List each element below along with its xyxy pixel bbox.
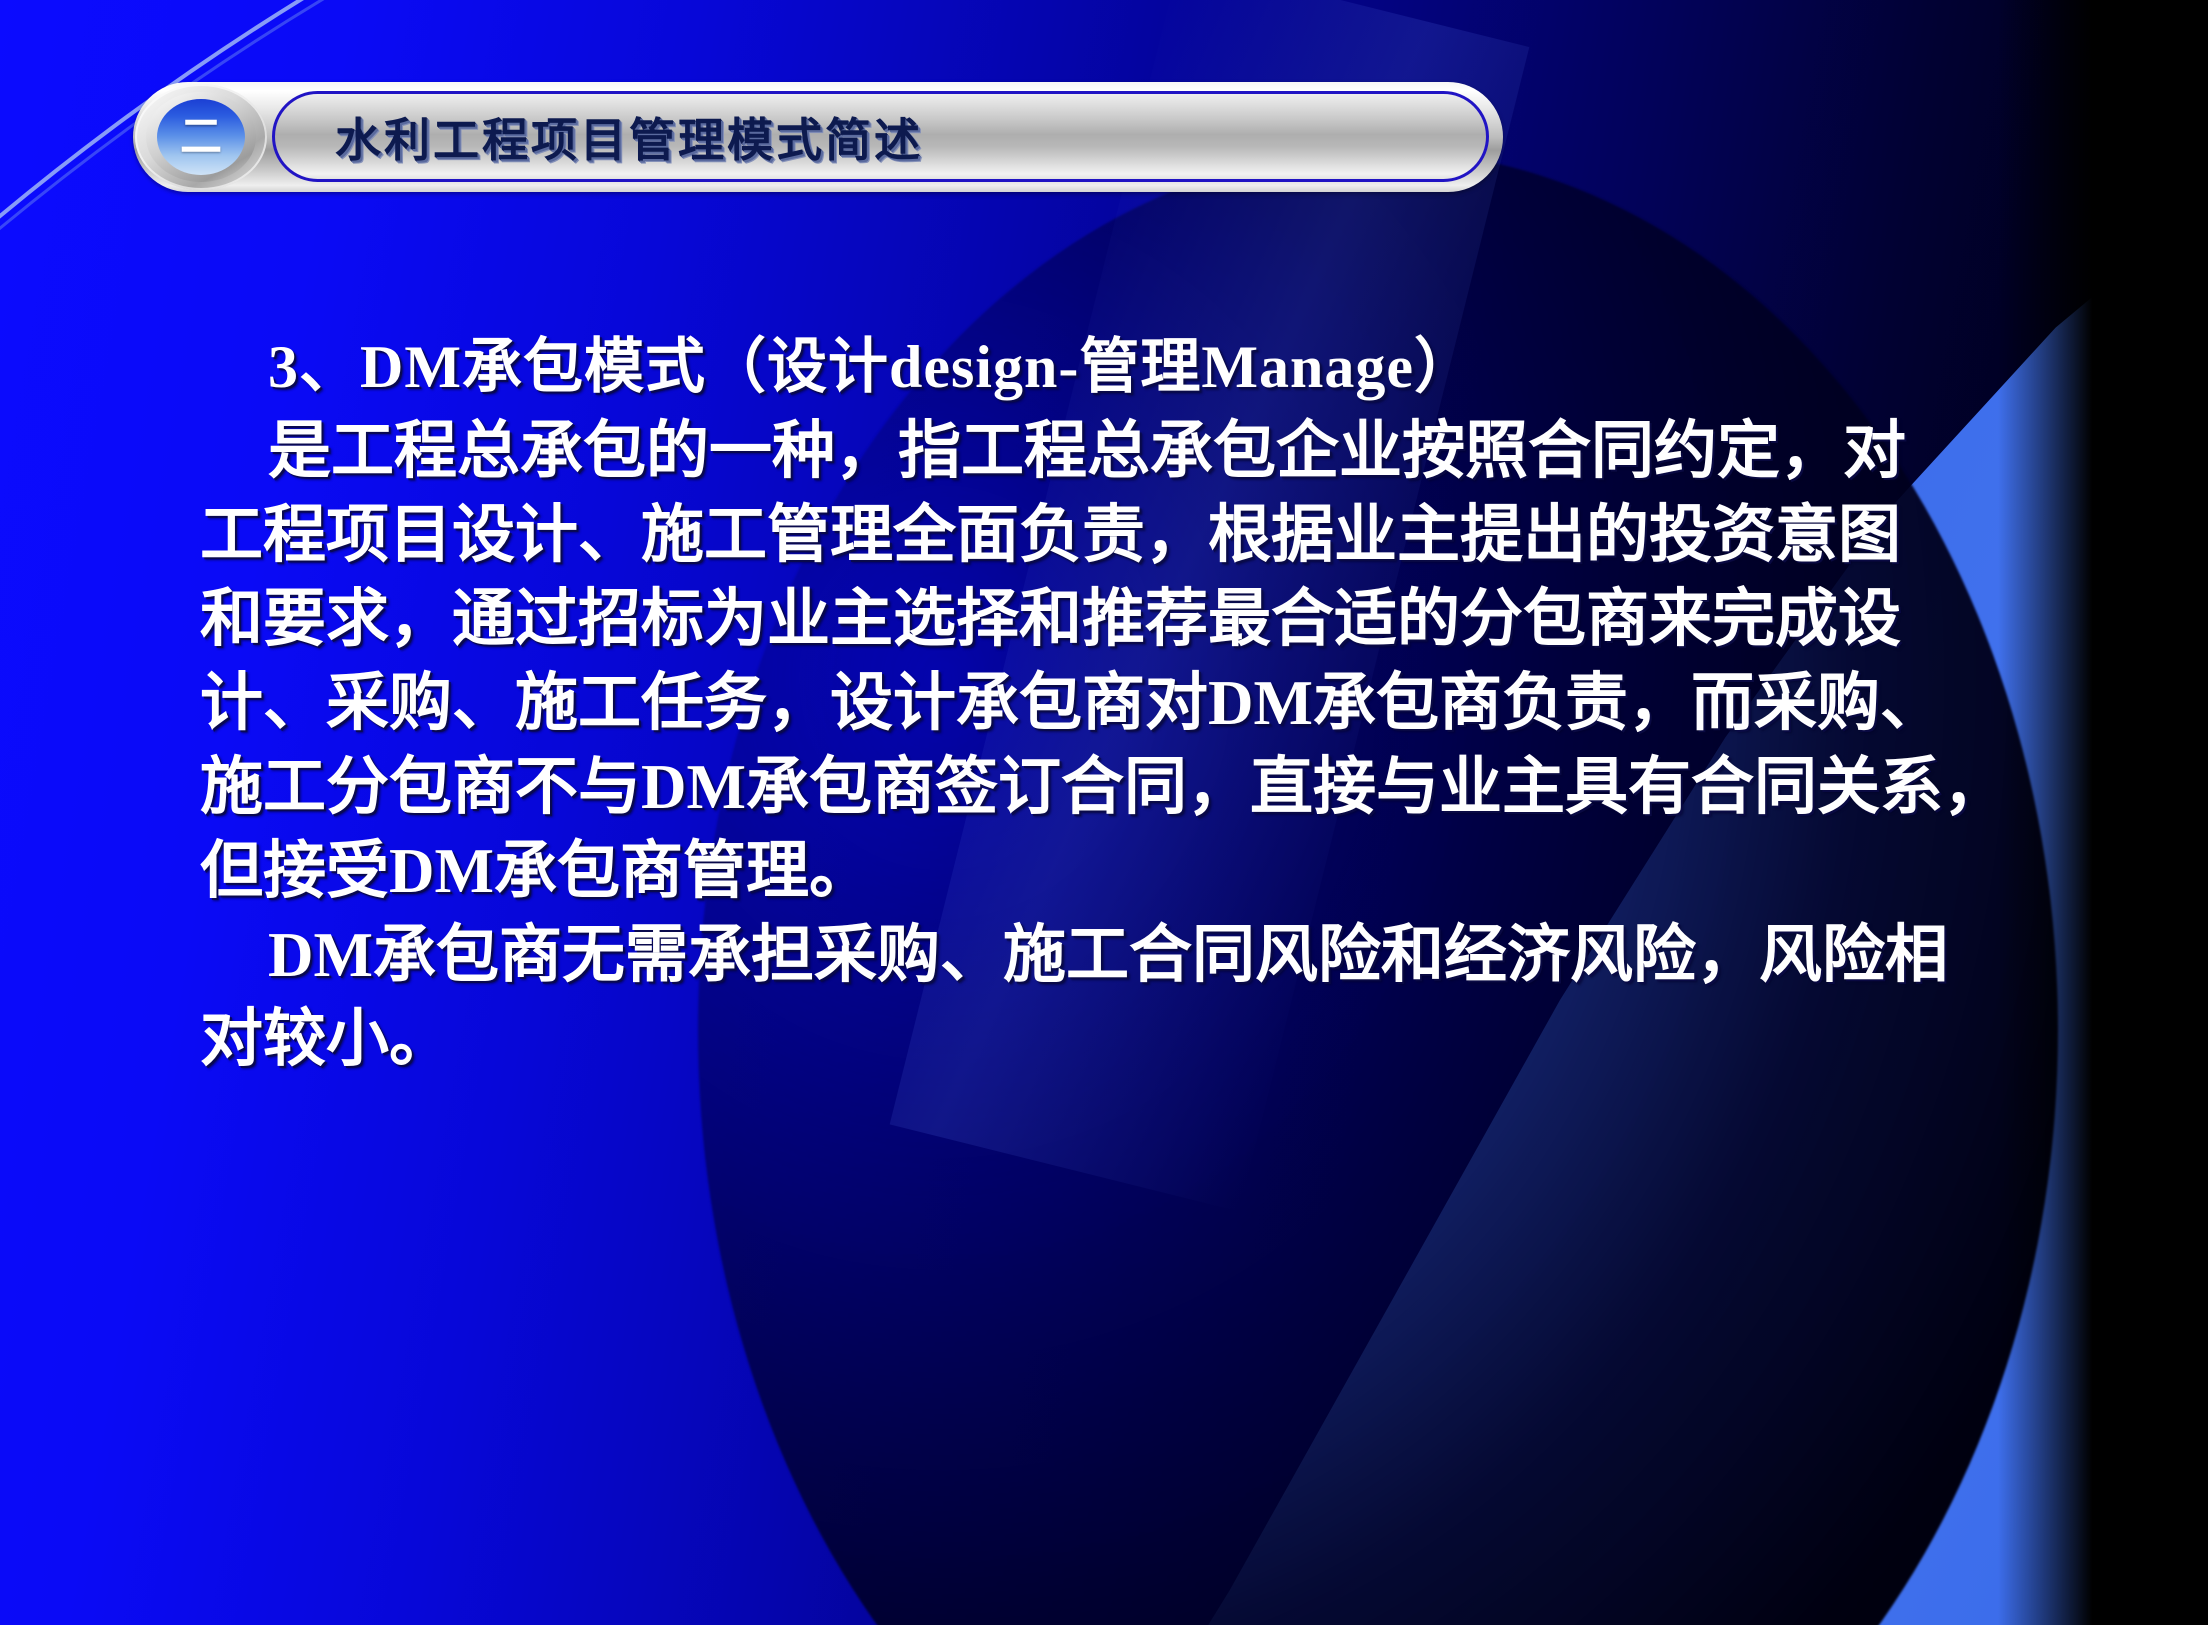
body-line: 计、采购、施工任务，设计承包商对DM承包商负责，而采购、 — [200, 661, 2100, 745]
page-title: 水利工程项目管理模式简述 — [335, 104, 923, 170]
badge-core-icon: 二 — [157, 99, 245, 175]
badge-number-glyph: 二 — [180, 115, 222, 159]
body-line: 但接受DM承包商管理。 — [200, 829, 2100, 913]
banner-inner-panel: 水利工程项目管理模式简述 — [272, 91, 1489, 182]
circle-number-badge-icon: 二 — [135, 84, 267, 190]
body-line: 和要求，通过招标为业主选择和推荐最合适的分包商来完成设 — [200, 577, 2100, 661]
slide-canvas: 水利工程项目管理模式简述 二 3、DM承包模式（设计design-管理Manag… — [0, 0, 2208, 1625]
body-line: DM承包商无需承担采购、施工合同风险和经济风险，风险相 — [200, 913, 2100, 997]
body-line: 施工分包商不与DM承包商签订合同，直接与业主具有合同关系， — [200, 745, 2100, 829]
body-line: 工程项目设计、施工管理全面负责，根据业主提出的投资意图 — [200, 493, 2100, 577]
slide-title-banner: 水利工程项目管理模式简述 二 — [133, 82, 1503, 192]
slide-body-text: 3、DM承包模式（设计design-管理Manage） 是工程总承包的一种，指工… — [200, 325, 2100, 1081]
body-line: 3、DM承包模式（设计design-管理Manage） — [200, 325, 2100, 409]
body-line: 是工程总承包的一种，指工程总承包企业按照合同约定，对 — [200, 409, 2100, 493]
body-line: 对较小。 — [200, 997, 2100, 1081]
